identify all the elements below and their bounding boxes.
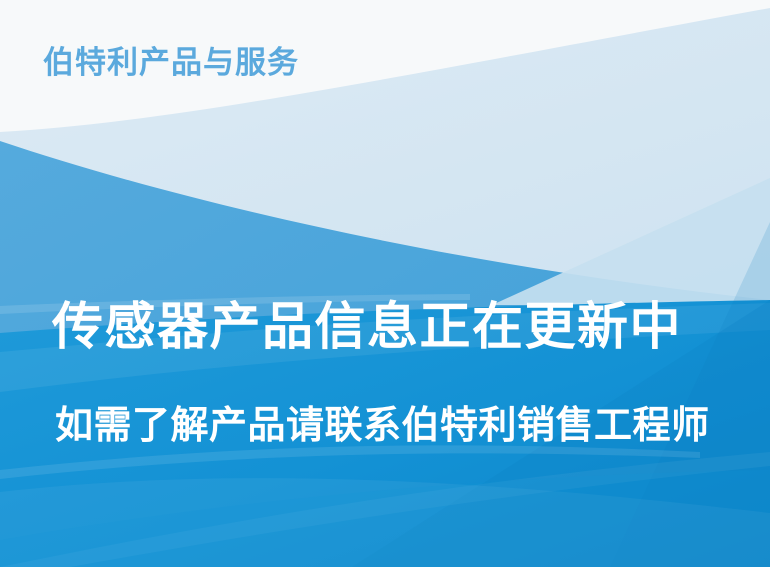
- page-title: 伯特利产品与服务: [43, 44, 299, 83]
- product-service-banner: 伯特利产品与服务 传感器产品信息正在更新中 如需了解产品请联系伯特利销售工程师: [0, 0, 770, 567]
- banner-text-layer: 伯特利产品与服务 传感器产品信息正在更新中 如需了解产品请联系伯特利销售工程师: [0, 0, 770, 567]
- subheadline-text: 如需了解产品请联系伯特利销售工程师: [55, 403, 710, 449]
- headline-text: 传感器产品信息正在更新中: [52, 298, 682, 358]
